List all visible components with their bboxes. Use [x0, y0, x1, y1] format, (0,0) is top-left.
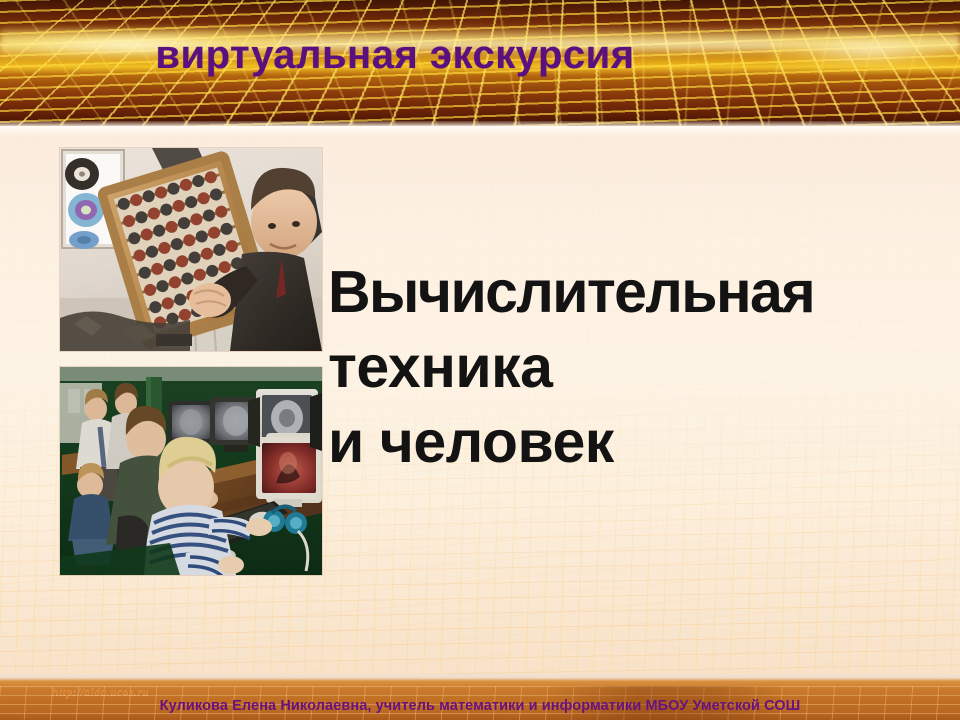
slide-title: виртуальная экскурсия [0, 32, 790, 78]
slide-header-banner: виртуальная экскурсия [0, 0, 960, 126]
author-credit: Куликова Елена Николаевна, учитель матем… [0, 698, 960, 714]
aida-watermark-link[interactable]: http://aida.ucoz.ru [52, 684, 149, 699]
presentation-slide: виртуальная экскурсия [0, 0, 960, 720]
headline-line-2: техника [328, 330, 960, 405]
slide-headline: Вычислительная техника и человек [328, 255, 960, 480]
photo-computer-lab [60, 367, 322, 575]
header-divider [0, 126, 960, 142]
header-glow-right [770, 34, 960, 68]
headline-line-3: и человек [328, 405, 960, 480]
headline-line-1: Вычислительная [328, 255, 960, 330]
photo-abacus-classroom [60, 148, 322, 351]
slide-footer-banner: http://aida.ucoz.ru Куликова Елена Никол… [0, 674, 960, 720]
